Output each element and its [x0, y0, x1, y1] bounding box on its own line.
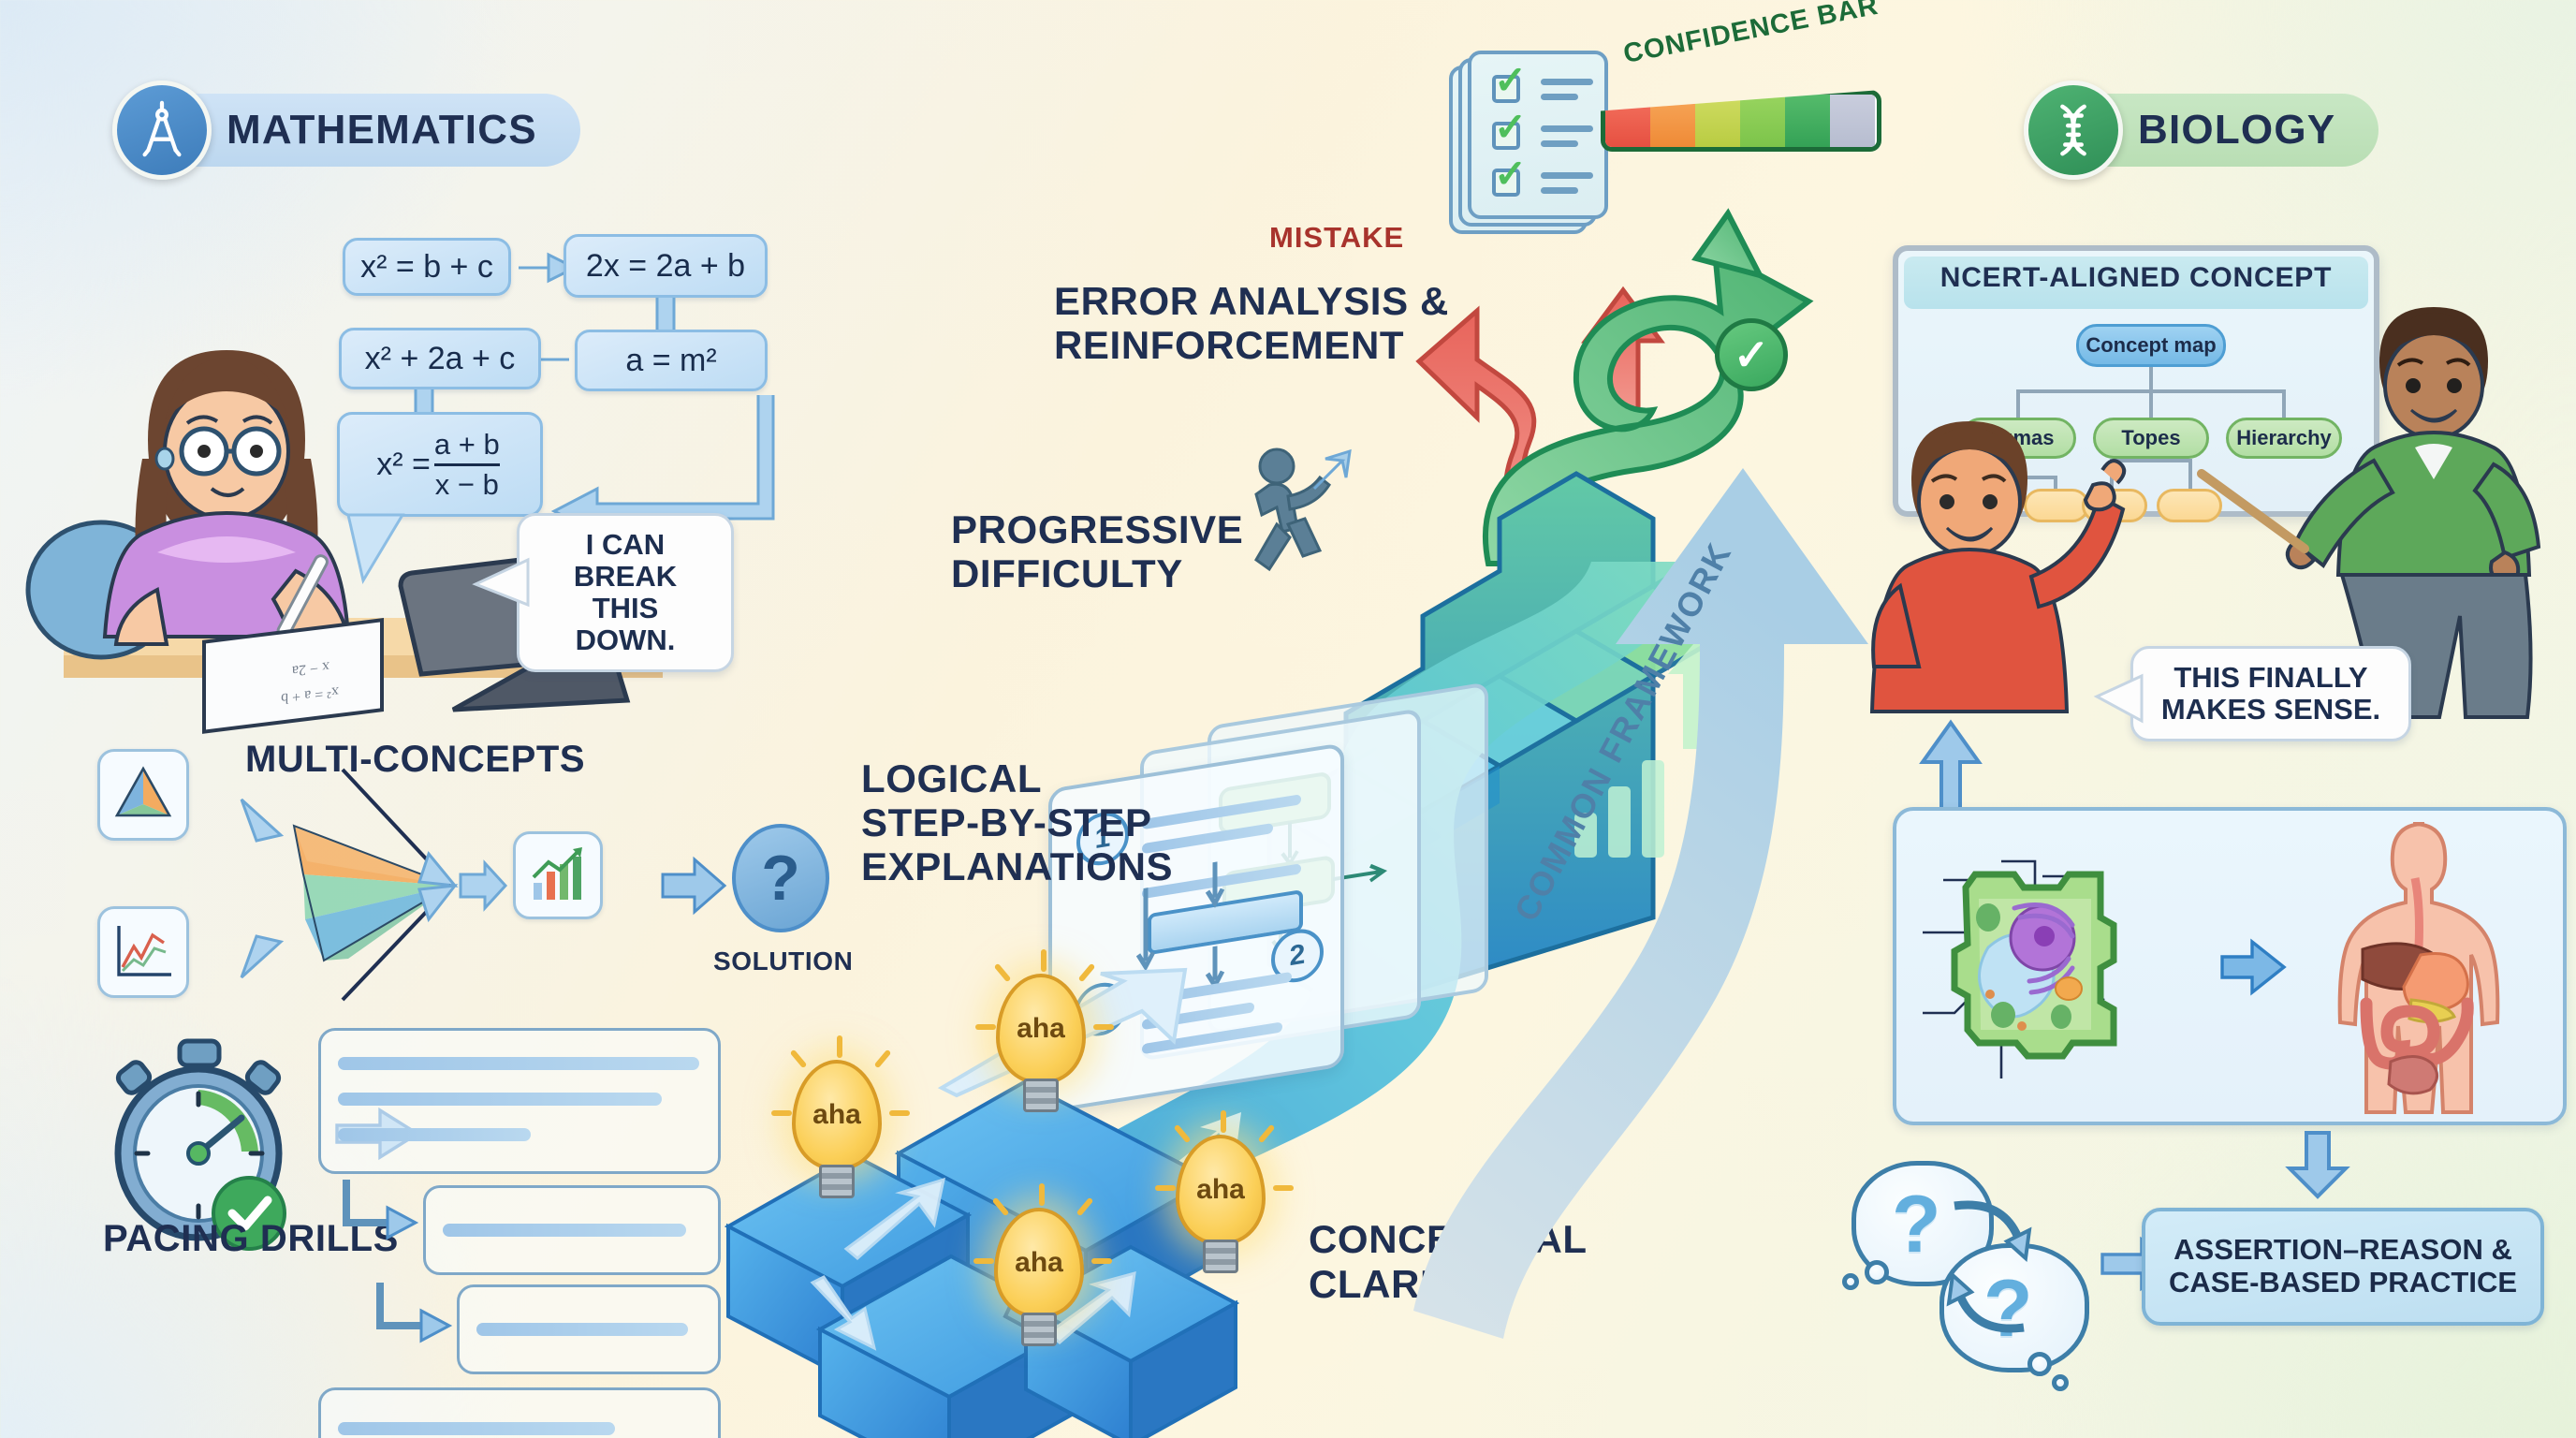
solution-label: SOLUTION	[713, 947, 853, 976]
bulb-ray	[1041, 949, 1046, 972]
checklist-line	[1541, 140, 1578, 147]
concept-leaf-3[interactable]	[2157, 489, 2222, 522]
header-pill-mathematics[interactable]: MATHEMATICS	[129, 94, 580, 167]
logical-steps-label: LOGICAL STEP-BY-STEP EXPLANATIONS	[861, 756, 1173, 888]
confidence-segment-1	[1605, 95, 1650, 147]
bulb-ray	[1155, 1185, 1176, 1191]
stepwise-line-1: LOGICAL	[861, 756, 1173, 800]
error-analysis-label: ERROR ANALYSIS & REINFORCEMENT	[1054, 279, 1449, 367]
thought-bubble-1-dot-b	[1842, 1273, 1859, 1290]
drill-card-3[interactable]	[457, 1284, 721, 1374]
formula-box-2: 2x = 2a + b	[563, 234, 768, 298]
confidence-bar-label: CONFIDENCE BAR	[1621, 0, 1881, 70]
multi-concepts-convergence	[183, 749, 764, 1030]
formula-box-1: x² = b + c	[343, 238, 511, 296]
math-student-speech-bubble: I CAN BREAK THIS DOWN.	[517, 513, 734, 672]
stepwise-line-3: EXPLANATIONS	[861, 844, 1173, 888]
confidence-bar[interactable]	[1601, 90, 1881, 152]
thought-bubble-cycle-arrows	[1947, 1178, 2097, 1365]
confidence-segment-6-empty	[1830, 95, 1875, 147]
pyramid-chart-card[interactable]	[97, 749, 189, 841]
bulb-ray	[1273, 1185, 1294, 1191]
checklist-line	[1541, 125, 1593, 132]
drill-card-1[interactable]	[318, 1028, 721, 1174]
thought-bubble-1-text: ?	[1892, 1179, 1941, 1271]
checkbox-checked[interactable]	[1492, 122, 1520, 150]
plant-cell-diagram-icon	[1923, 828, 2222, 1108]
practice-box-line-2: CASE-BASED PRACTICE	[2169, 1267, 2517, 1299]
bulb-ray	[1221, 1110, 1226, 1133]
bulb-ray	[1039, 1183, 1045, 1206]
biology-student-speech-text: THIS FINALLY MAKES SENSE.	[2161, 661, 2380, 726]
biology-panel-down-arrow	[2280, 1131, 2355, 1198]
bulb-ray	[837, 1035, 842, 1058]
pyramid-chart-icon	[110, 765, 177, 825]
drill-line	[338, 1093, 662, 1106]
biology-student-speech-bubble: THIS FINALLY MAKES SENSE.	[2130, 646, 2411, 741]
stepwise-line-2: STEP-BY-STEP	[861, 800, 1173, 844]
bulb-ray	[889, 1110, 910, 1116]
bulb-ray	[771, 1110, 792, 1116]
header-label-biology: BIOLOGY	[2138, 107, 2335, 154]
board-connector	[2188, 459, 2192, 492]
growth-bar-chart-card[interactable]	[513, 831, 603, 919]
bulb-ray	[1093, 1024, 1114, 1030]
error-analysis-line-2: REINFORCEMENT	[1054, 323, 1449, 367]
drill-line	[443, 1224, 686, 1237]
formula-text-2: 2x = 2a + b	[586, 248, 745, 285]
header-pill-biology[interactable]: BIOLOGY	[2041, 94, 2378, 167]
checkbox-checked[interactable]	[1492, 75, 1520, 103]
bulb-base	[1203, 1240, 1238, 1273]
assertion-reason-practice-box[interactable]: ASSERTION–REASON & CASE-BASED PRACTICE	[2142, 1208, 2544, 1326]
mistake-label: MISTAKE	[1269, 221, 1404, 255]
drill-card-4[interactable]	[318, 1387, 721, 1438]
confidence-segment-5	[1785, 95, 1830, 147]
stopwatch-icon	[99, 1039, 305, 1245]
math-speech-tail	[474, 556, 532, 612]
biology-diagram-panel[interactable]	[1893, 807, 2567, 1125]
bulb-base	[1021, 1313, 1057, 1346]
biology-speech-tail	[2095, 672, 2145, 730]
bulb-ray	[973, 1258, 994, 1264]
line-graph-card[interactable]	[97, 906, 189, 998]
compass-icon	[112, 81, 212, 180]
drill-card-2[interactable]	[423, 1185, 721, 1275]
arrow-right-icon	[2220, 940, 2286, 994]
drill-line	[338, 1422, 615, 1435]
checklist-line	[1541, 94, 1578, 100]
bulb-base	[819, 1165, 855, 1198]
board-connector	[2149, 367, 2153, 391]
header-label-mathematics: MATHEMATICS	[227, 107, 537, 154]
bulb-ray	[1091, 1258, 1112, 1264]
growth-bar-chart-icon	[526, 845, 590, 905]
human-digestive-system-icon	[2305, 816, 2539, 1116]
drill-line	[476, 1323, 688, 1336]
math-student-speech-text: I CAN BREAK THIS DOWN.	[574, 528, 677, 656]
error-analysis-line-1: ERROR ANALYSIS &	[1054, 279, 1449, 323]
confidence-segment-2	[1650, 95, 1695, 147]
thought-bubble-2-dot-b	[2052, 1374, 2069, 1391]
bulb-ray	[975, 1024, 996, 1030]
concept-node-root[interactable]: Concept map	[2076, 324, 2226, 367]
bulb-base	[1023, 1078, 1059, 1112]
check-circle-icon: ✓	[1715, 318, 1788, 391]
formula-text-1: x² = b + c	[360, 249, 493, 286]
drill-line	[338, 1128, 531, 1141]
confidence-segment-3	[1695, 95, 1740, 147]
checklist-line	[1541, 79, 1593, 85]
dna-icon	[2024, 81, 2123, 180]
confidence-segment-4	[1740, 95, 1785, 147]
line-graph-icon	[110, 920, 177, 984]
drill-connector-2	[374, 1281, 455, 1356]
board-title: NCERT-ALIGNED CONCEPT	[1898, 262, 2374, 294]
drill-line	[338, 1057, 699, 1070]
thought-bubble-1-dot-a	[1865, 1260, 1889, 1284]
question-mark-oval-icon: ?	[732, 824, 829, 932]
drill-connector-1	[341, 1178, 421, 1253]
practice-box-line-1: ASSERTION–REASON &	[2173, 1234, 2512, 1267]
